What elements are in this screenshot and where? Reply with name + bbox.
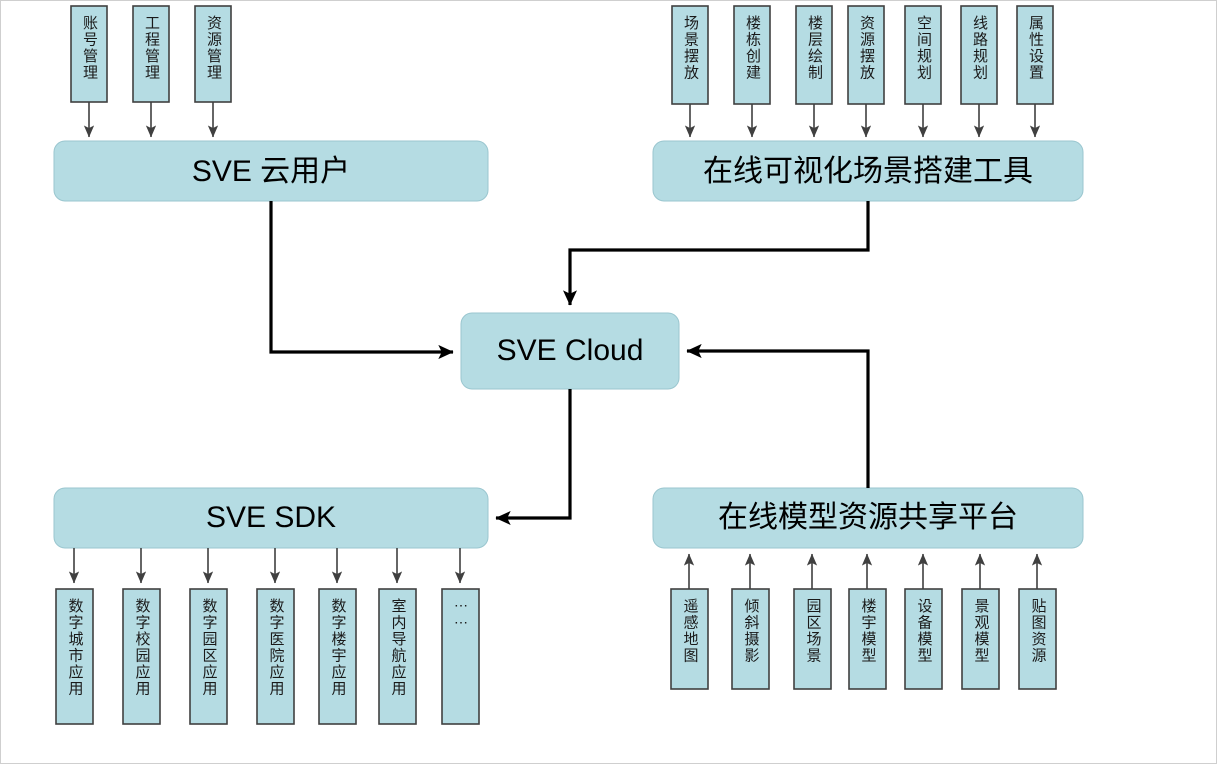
feature-box-label: 场景摆放 [682, 15, 699, 81]
app-box-label: 数字校园应用 [134, 598, 151, 697]
feature-box-label: 楼层绘制 [806, 15, 823, 81]
feature-box-label: 工程管理 [143, 15, 160, 81]
app-box-digital-city[interactable]: 数字城市应用 [56, 589, 93, 724]
resource-box-label: 楼宇模型 [860, 598, 877, 664]
app-box-label: 数字医院应用 [268, 598, 285, 697]
resource-box-remote-sensing-map[interactable]: 遥感地图 [671, 589, 708, 689]
feature-box-floor-draw[interactable]: 楼层绘制 [796, 6, 832, 104]
feature-box-label: 账号管理 [81, 15, 98, 81]
connector-modelplatform-to-svecloud [687, 351, 868, 488]
resource-box-texture-resource[interactable]: 贴图资源 [1019, 589, 1056, 689]
resource-box-label: 倾斜摄影 [743, 598, 760, 664]
resource-box-landscape-model[interactable]: 景观模型 [962, 589, 999, 689]
app-box-digital-building[interactable]: 数字楼宇应用 [319, 589, 356, 724]
app-box-label: 数字城市应用 [67, 598, 84, 697]
node-sve-cloud[interactable]: SVE Cloud [461, 313, 679, 389]
resource-box-label: 遥感地图 [682, 598, 699, 664]
resource-box-oblique-photography[interactable]: 倾斜摄影 [732, 589, 769, 689]
diagram-page: 账号管理 工程管理 资源管理 场景摆放 楼栋创建 [0, 0, 1217, 764]
node-scene-tool[interactable]: 在线可视化场景搭建工具 [653, 141, 1083, 201]
feature-box-label: 空间规划 [915, 15, 932, 81]
node-scene-tool-label: 在线可视化场景搭建工具 [703, 155, 1033, 188]
feature-box-project[interactable]: 工程管理 [133, 6, 169, 102]
app-box-digital-park[interactable]: 数字园区应用 [190, 589, 227, 724]
feature-box-route-planning[interactable]: 线路规划 [961, 6, 997, 104]
app-box-label: 数字楼宇应用 [330, 598, 347, 697]
feature-box-label: 楼栋创建 [744, 15, 761, 81]
cloud-user-features-group: 账号管理 工程管理 资源管理 [71, 6, 231, 137]
feature-box-label: 线路规划 [971, 15, 988, 81]
connector-svecloud-to-svesdk [496, 389, 570, 518]
architecture-diagram: 账号管理 工程管理 资源管理 场景摆放 楼栋创建 [1, 1, 1217, 765]
feature-box-resource-placement[interactable]: 资源摆放 [848, 6, 884, 104]
connector-scenetool-to-svecloud [570, 201, 868, 305]
connector-clouduser-to-svecloud [271, 201, 453, 352]
node-model-platform-label: 在线模型资源共享平台 [718, 501, 1018, 534]
node-cloud-user-label: SVE 云用户 [192, 155, 350, 188]
resource-box-label: 贴图资源 [1030, 598, 1047, 664]
app-box-indoor-navigation[interactable]: 室内导航应用 [379, 589, 416, 724]
feature-box-resource[interactable]: 资源管理 [195, 6, 231, 102]
app-box-digital-hospital[interactable]: 数字医院应用 [257, 589, 294, 724]
app-box-label: 室内导航应用 [390, 598, 407, 697]
node-sve-sdk-label: SVE SDK [206, 501, 336, 534]
resource-box-building-model[interactable]: 楼宇模型 [849, 589, 886, 689]
feature-box-label: 属性设置 [1027, 15, 1044, 81]
node-cloud-user[interactable]: SVE 云用户 [54, 141, 488, 201]
app-box-label: 数字园区应用 [201, 598, 218, 697]
resource-box-label: 园区场景 [805, 598, 822, 664]
resource-box-park-scene[interactable]: 园区场景 [794, 589, 831, 689]
feature-box-label: 资源管理 [205, 15, 222, 81]
resource-box-label: 设备模型 [916, 598, 933, 664]
feature-box-building-create[interactable]: 楼栋创建 [734, 6, 770, 104]
feature-box-label: 资源摆放 [858, 15, 875, 81]
app-box-digital-campus[interactable]: 数字校园应用 [123, 589, 160, 724]
app-box-more[interactable]: ⋯⋯ [442, 589, 479, 724]
app-box-label: ⋯⋯ [453, 598, 468, 632]
node-sve-cloud-label: SVE Cloud [497, 334, 644, 367]
resource-box-label: 景观模型 [973, 598, 990, 664]
node-sve-sdk[interactable]: SVE SDK [54, 488, 488, 548]
resource-box-equipment-model[interactable]: 设备模型 [905, 589, 942, 689]
platform-resources-group: 遥感地图 倾斜摄影 园区场景 楼宇模型 设备模型 景观模型 [671, 554, 1056, 689]
node-model-platform[interactable]: 在线模型资源共享平台 [653, 488, 1083, 548]
feature-box-scene-placement[interactable]: 场景摆放 [672, 6, 708, 104]
feature-box-property-setting[interactable]: 属性设置 [1017, 6, 1053, 104]
feature-box-space-planning[interactable]: 空间规划 [905, 6, 941, 104]
sdk-applications-group: 数字城市应用 数字校园应用 数字园区应用 数字医院应用 数字楼宇应用 室内导航应… [56, 548, 479, 724]
scene-tool-features-group: 场景摆放 楼栋创建 楼层绘制 资源摆放 空间规划 线路规划 [672, 6, 1053, 137]
feature-box-account[interactable]: 账号管理 [71, 6, 107, 102]
